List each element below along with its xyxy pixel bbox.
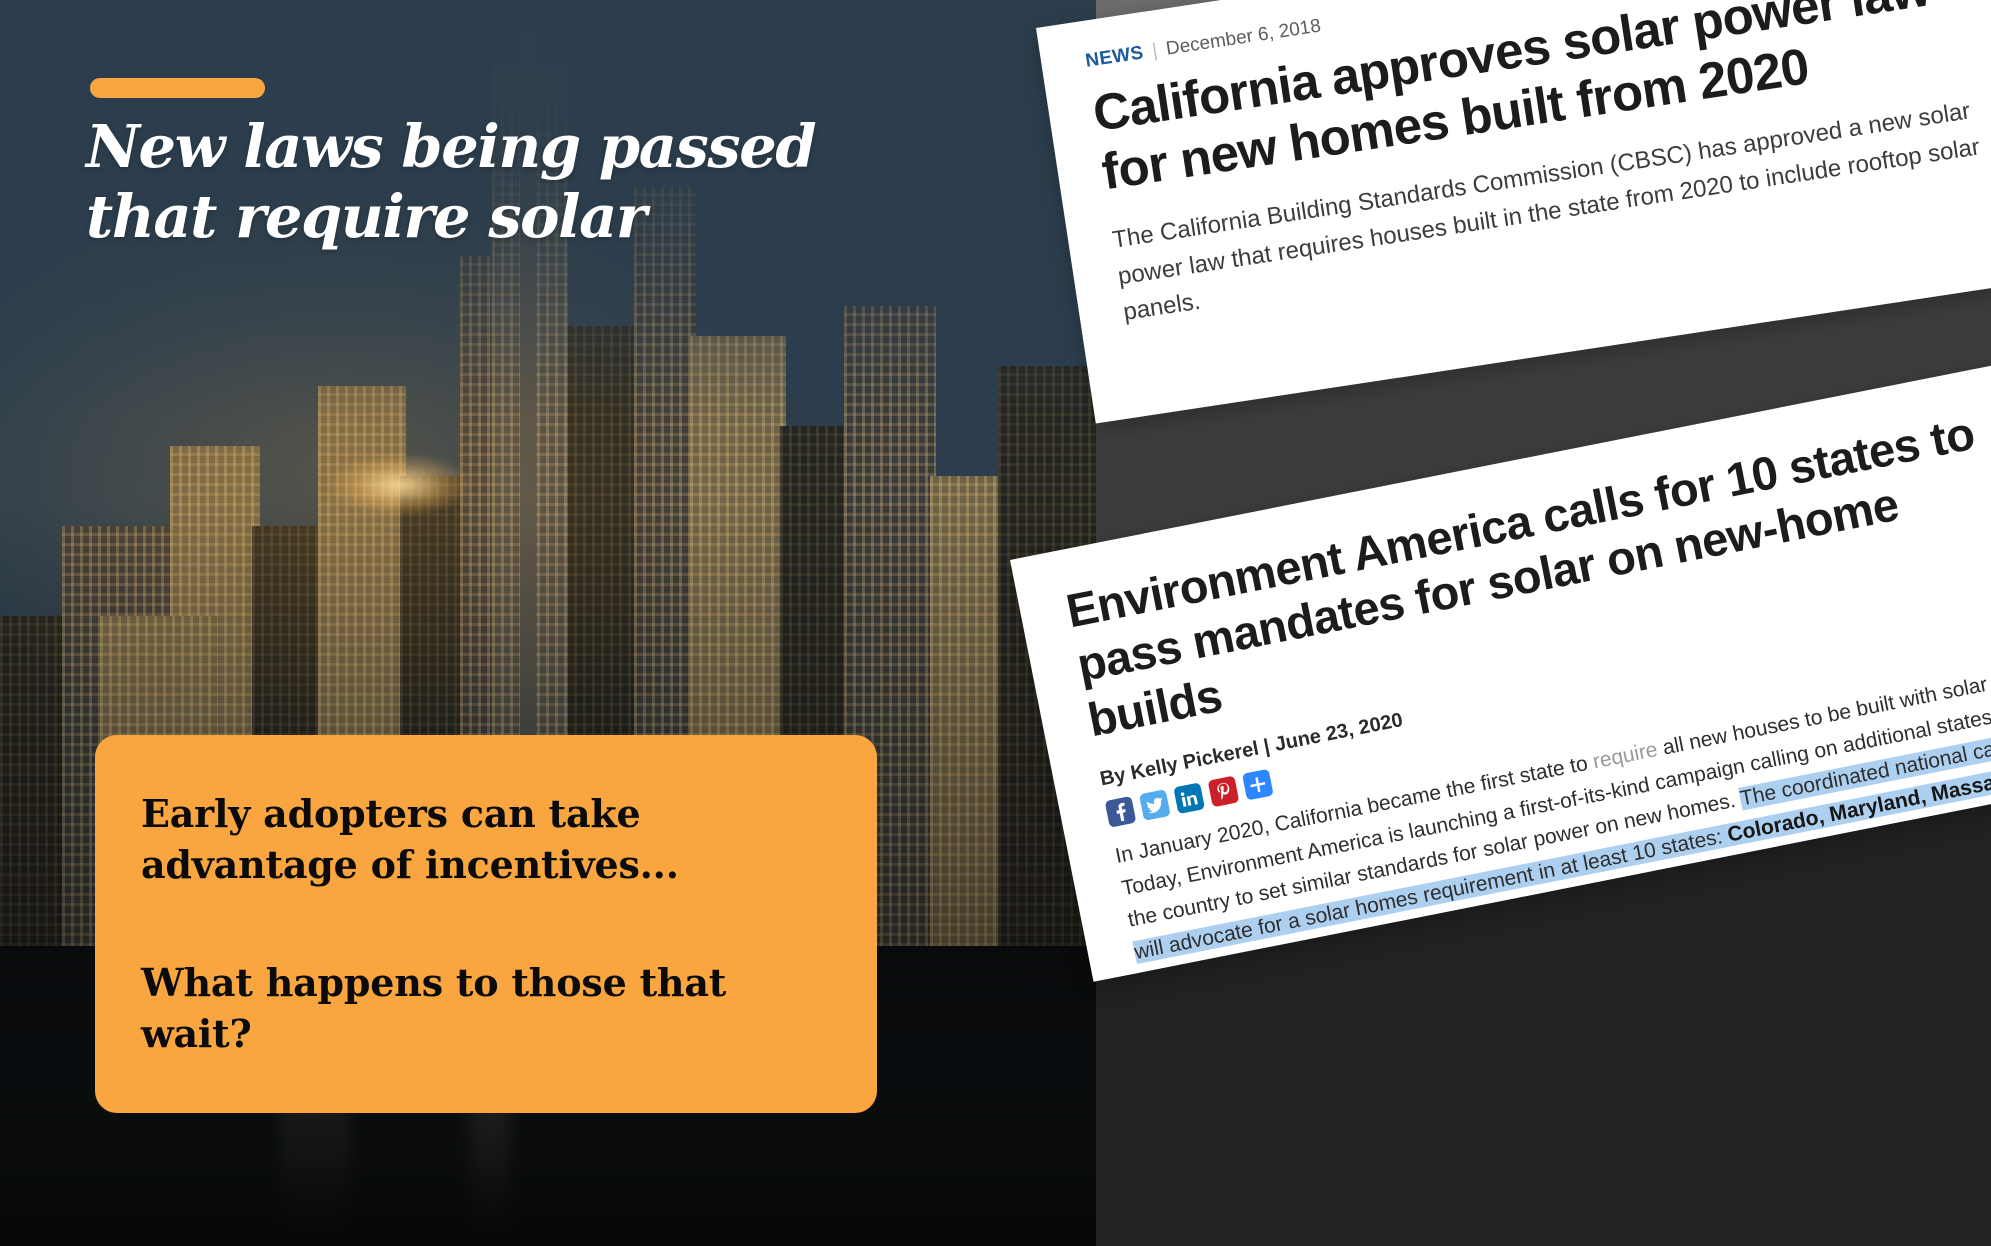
linkedin-icon[interactable] xyxy=(1173,783,1205,815)
page-title-line-1: New laws being passed xyxy=(86,112,926,182)
news-kicker: NEWS xyxy=(1084,42,1145,73)
twitter-icon[interactable] xyxy=(1139,790,1171,822)
clip2-body-require: require xyxy=(1591,738,1660,773)
share-icon[interactable] xyxy=(1242,769,1274,801)
kicker-separator: | xyxy=(1151,40,1159,62)
callout-statement: Early adopters can take advantage of inc… xyxy=(141,789,831,890)
left-panel: New laws being passed that require solar… xyxy=(0,0,1096,1246)
page-title: New laws being passed that require solar xyxy=(86,112,926,251)
pinterest-icon[interactable] xyxy=(1208,776,1240,808)
slide-canvas: New laws being passed that require solar… xyxy=(0,0,1991,1246)
callout-question: What happens to those that wait? xyxy=(141,958,831,1059)
accent-bar xyxy=(90,78,265,98)
callout-card: Early adopters can take advantage of inc… xyxy=(95,735,877,1113)
page-title-line-2: that require solar xyxy=(86,182,926,252)
facebook-icon[interactable] xyxy=(1105,796,1137,828)
